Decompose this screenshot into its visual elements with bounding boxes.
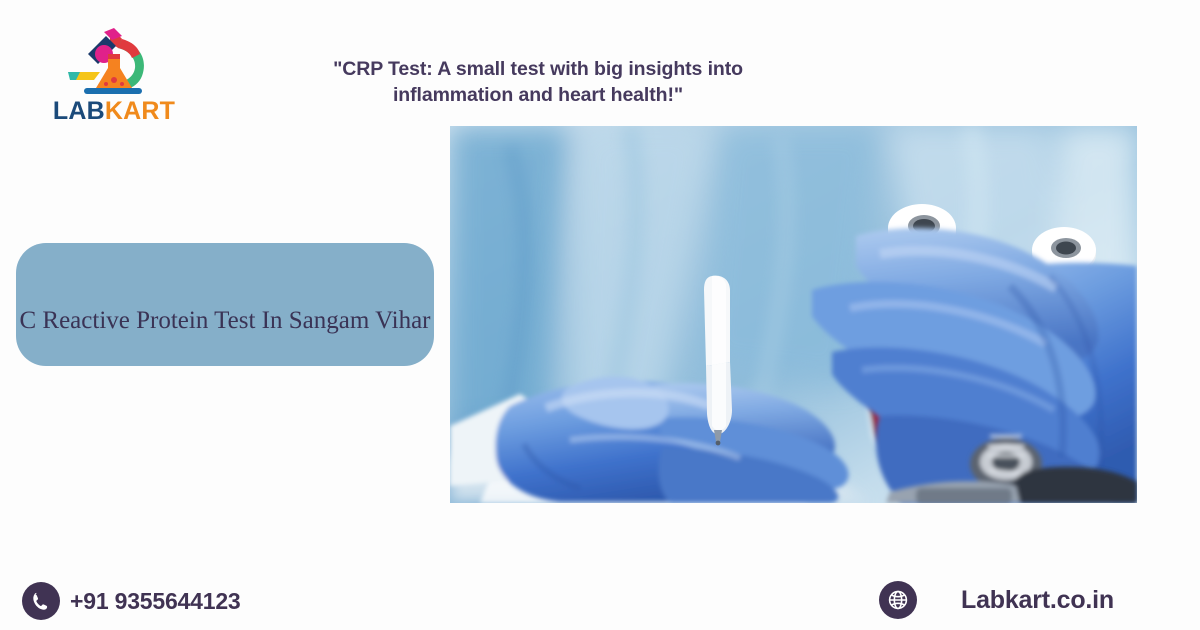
wordmark-lab: LAB [53, 97, 105, 125]
banner: LABKART "CRP Test: A small test with big… [0, 0, 1200, 630]
footer-website[interactable]: Labkart.co.in [879, 578, 1114, 622]
globe-icon [879, 581, 917, 619]
brand-wordmark: LABKART [48, 96, 180, 126]
lab-photo-illustration [450, 126, 1137, 503]
headline-text: "CRP Test: A small test with big insight… [300, 56, 776, 108]
footer-phone[interactable]: +91 9355644123 [22, 580, 241, 622]
hero-photo [450, 126, 1137, 503]
phone-number: +91 9355644123 [70, 588, 241, 615]
phone-icon [22, 582, 60, 620]
microscope-flask-icon [48, 26, 180, 96]
website-url: Labkart.co.in [961, 586, 1114, 615]
page-title: C Reactive Protein Test In Sangam Vihar [16, 305, 434, 337]
wordmark-kart: KART [105, 97, 175, 125]
page-title-pill: C Reactive Protein Test In Sangam Vihar [16, 243, 434, 366]
brand-logo[interactable]: LABKART [48, 26, 180, 130]
